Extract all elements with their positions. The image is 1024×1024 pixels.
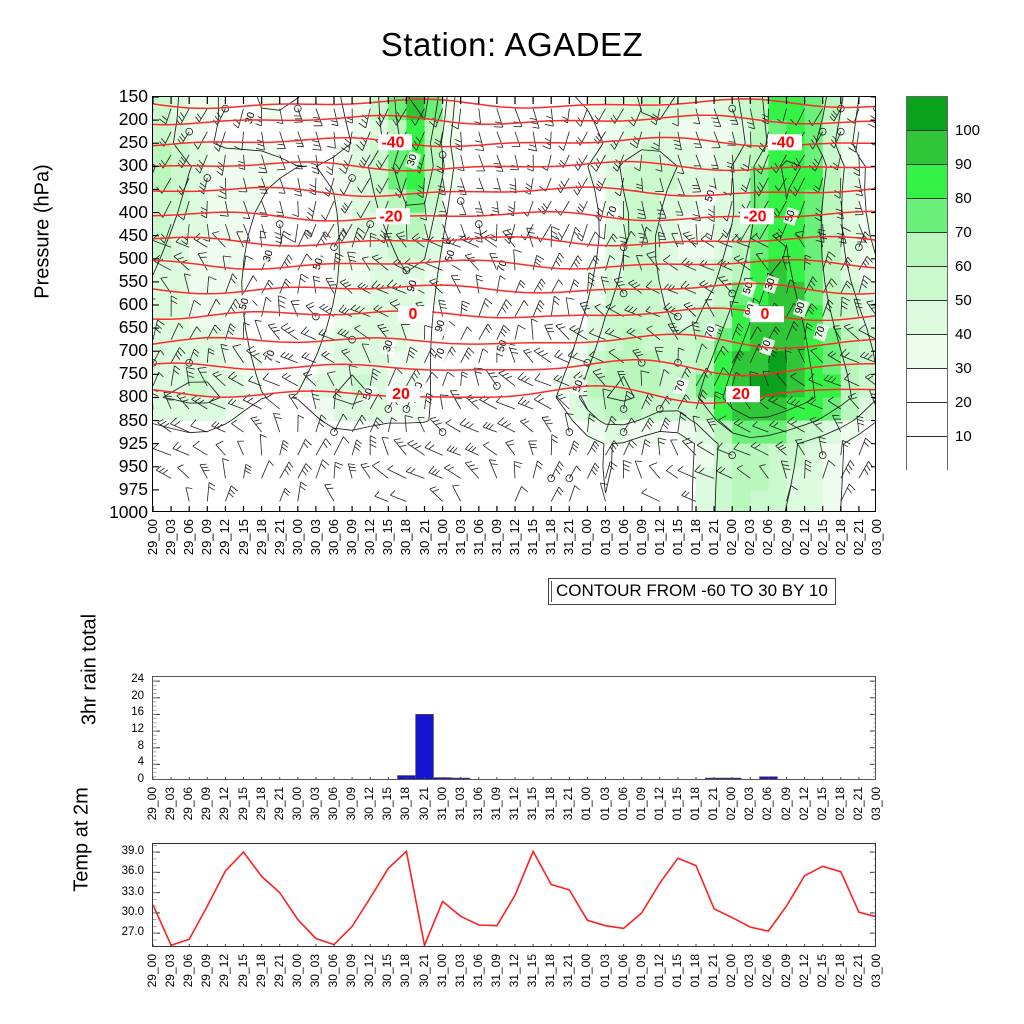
time-tick: 29_15 (237, 787, 249, 820)
time-tick: 30_06 (327, 519, 340, 555)
colorbar-band (907, 369, 947, 403)
colorbar-band (907, 233, 947, 267)
time-tick: 02_21 (852, 954, 864, 987)
temperature-plot (152, 843, 876, 947)
rain-tick: 8 (104, 741, 144, 753)
time-tick: 02_15 (816, 519, 829, 555)
colorbar-label: 70 (955, 225, 972, 240)
page-title: Station: AGADEZ (0, 26, 1024, 64)
colorbar-label: 20 (955, 395, 972, 410)
time-tick: 01_06 (617, 954, 629, 987)
time-tick: 01_09 (635, 954, 647, 987)
temp-line (153, 851, 876, 945)
time-tick: 02_09 (780, 954, 792, 987)
colorbar-label: 80 (955, 191, 972, 206)
time-tick: 31_03 (454, 519, 467, 555)
time-tick: 31_03 (454, 787, 466, 820)
temp-axis-ticks: 27.030.033.036.039.0 (100, 836, 144, 956)
temp-axis-title: Temp at 2m (71, 730, 94, 950)
time-tick: 29_12 (218, 519, 231, 555)
pressure-tick: 750 (72, 365, 148, 383)
colorbar-band (907, 335, 947, 369)
time-tick: 30_12 (363, 954, 375, 987)
time-tick: 30_00 (291, 519, 304, 555)
time-tick: 30_09 (345, 954, 357, 987)
time-tick: 29_09 (200, 519, 213, 555)
pressure-tick: 800 (72, 388, 148, 406)
colorbar-band (907, 131, 947, 165)
time-tick: 31_06 (472, 787, 484, 820)
pressure-tick: 950 (72, 458, 148, 476)
time-tick: 02_15 (816, 954, 828, 987)
time-tick: 31_06 (472, 954, 484, 987)
time-tick: 30_18 (399, 954, 411, 987)
time-tick: 01_03 (599, 787, 611, 820)
time-tick: 29_06 (182, 954, 194, 987)
time-tick: 01_21 (707, 519, 720, 555)
rain-tick: 12 (104, 724, 144, 736)
temp-time-axis: 29_0029_0329_0629_0929_1229_1529_1829_21… (152, 952, 876, 1010)
colorbar-label: 40 (955, 327, 972, 342)
temp-tick: 36.0 (100, 866, 144, 878)
temp-tick: 30.0 (100, 907, 144, 919)
time-tick: 31_21 (562, 787, 574, 820)
time-tick: 01_21 (707, 954, 719, 987)
time-tick: 02_09 (780, 519, 793, 555)
colorbar-label: 10 (955, 429, 972, 444)
pressure-tick: 350 (72, 180, 148, 198)
time-tick: 01_06 (617, 787, 629, 820)
pressure-tick: 400 (72, 204, 148, 222)
time-tick: 02_21 (852, 519, 865, 555)
pressure-axis-ticks: 1502002503003504004505005506006507007508… (72, 88, 148, 520)
colorbar-band (907, 199, 947, 233)
svg-text:20: 20 (392, 386, 410, 403)
time-tick: 02_03 (743, 519, 756, 555)
time-tick: 02_18 (834, 519, 847, 555)
time-tick: 31_03 (454, 954, 466, 987)
time-tick: 30_00 (291, 787, 303, 820)
time-tick: 31_12 (508, 954, 520, 987)
time-tick: 29_09 (200, 787, 212, 820)
svg-text:-20: -20 (379, 208, 402, 225)
time-tick: 31_00 (436, 787, 448, 820)
rain-tick: 16 (104, 707, 144, 719)
time-tick: 03_00 (870, 519, 883, 555)
pressure-tick: 250 (72, 134, 148, 152)
colorbar-label: 30 (955, 361, 972, 376)
pressure-tick: 850 (72, 412, 148, 430)
time-tick: 29_03 (164, 787, 176, 820)
humidity-cross-section-plot: 3030303030505050505050505050707070707070… (152, 96, 876, 512)
time-tick: 01_15 (671, 954, 683, 987)
temp-tick: 27.0 (100, 927, 144, 939)
time-tick: 31_12 (508, 787, 520, 820)
time-tick: 31_00 (436, 519, 449, 555)
time-tick: 29_00 (146, 954, 158, 987)
rain-tick: 0 (104, 774, 144, 786)
time-tick: 02_09 (780, 787, 792, 820)
time-tick: 01_12 (653, 954, 665, 987)
time-tick: 30_15 (381, 954, 393, 987)
svg-text:-20: -20 (743, 208, 766, 225)
time-tick: 30_00 (291, 954, 303, 987)
time-tick: 31_21 (562, 519, 575, 555)
pressure-tick: 300 (72, 157, 148, 175)
colorbar-band (907, 267, 947, 301)
time-tick: 31_06 (472, 519, 485, 555)
time-tick: 31_09 (490, 787, 502, 820)
time-tick: 01_18 (689, 954, 701, 987)
time-tick: 02_03 (743, 787, 755, 820)
time-tick: 29_21 (273, 954, 285, 987)
pressure-tick: 650 (72, 319, 148, 337)
rain-canvas (153, 677, 876, 780)
time-tick: 30_12 (363, 787, 375, 820)
time-tick: 02_00 (725, 519, 738, 555)
time-tick: 31_09 (490, 954, 502, 987)
time-tick: 29_09 (200, 954, 212, 987)
time-tick: 01_00 (580, 954, 592, 987)
time-tick: 30_09 (345, 787, 357, 820)
rain-tick: 4 (104, 757, 144, 769)
time-tick: 01_00 (580, 519, 593, 555)
rain-tick: 24 (104, 674, 144, 686)
time-tick: 31_18 (544, 519, 557, 555)
time-tick: 02_12 (798, 787, 810, 820)
time-tick: 30_03 (309, 519, 322, 555)
pressure-tick: 700 (72, 342, 148, 360)
time-tick: 01_03 (599, 954, 611, 987)
cross-section-canvas: 3030303030505050505050505050707070707070… (153, 97, 876, 512)
time-tick: 30_18 (399, 787, 411, 820)
time-tick: 01_09 (635, 787, 647, 820)
time-tick: 02_18 (834, 954, 846, 987)
time-tick: 29_18 (255, 519, 268, 555)
time-tick: 03_00 (870, 787, 882, 820)
colorbar-band (907, 437, 947, 471)
time-tick: 31_18 (544, 787, 556, 820)
time-tick: 01_18 (689, 519, 702, 555)
time-tick: 03_00 (870, 954, 882, 987)
time-tick: 30_21 (418, 954, 430, 987)
time-tick: 01_12 (653, 519, 666, 555)
time-tick: 01_06 (617, 519, 630, 555)
time-tick: 30_21 (418, 519, 431, 555)
rain-tick: 20 (104, 691, 144, 703)
colorbar-band (907, 97, 947, 131)
rain-time-axis: 29_0029_0329_0629_0929_1229_1529_1829_21… (152, 785, 876, 843)
temp-canvas (153, 844, 876, 947)
rain-axis-ticks: 04812162024 (104, 668, 144, 788)
time-tick: 30_12 (363, 519, 376, 555)
time-tick: 02_18 (834, 787, 846, 820)
svg-text:20: 20 (732, 386, 750, 403)
time-tick: 30_18 (399, 519, 412, 555)
time-tick: 30_21 (418, 787, 430, 820)
pressure-tick: 600 (72, 296, 148, 314)
time-tick: 31_15 (526, 519, 539, 555)
svg-text:0: 0 (409, 306, 418, 323)
time-tick: 30_15 (381, 519, 394, 555)
time-tick: 29_03 (164, 519, 177, 555)
time-tick: 30_15 (381, 787, 393, 820)
time-tick: 02_03 (743, 954, 755, 987)
colorbar-label: 50 (955, 293, 972, 308)
time-tick: 29_15 (237, 954, 249, 987)
time-tick: 29_03 (164, 954, 176, 987)
time-tick: 29_00 (146, 519, 159, 555)
time-tick: 31_15 (526, 787, 538, 820)
pressure-tick: 450 (72, 227, 148, 245)
colorbar-band (907, 403, 947, 437)
time-tick: 02_06 (761, 954, 773, 987)
time-tick: 01_15 (671, 787, 683, 820)
colorbar-label: 60 (955, 259, 972, 274)
time-tick: 31_00 (436, 954, 448, 987)
time-tick: 02_12 (798, 519, 811, 555)
rain-bar (579, 779, 597, 780)
time-tick: 29_18 (255, 787, 267, 820)
time-tick: 30_06 (327, 787, 339, 820)
temp-tick: 33.0 (100, 887, 144, 899)
time-tick: 01_18 (689, 787, 701, 820)
time-tick: 31_15 (526, 954, 538, 987)
pressure-tick: 500 (72, 250, 148, 268)
rain-bar (416, 714, 434, 780)
time-tick: 30_09 (345, 519, 358, 555)
time-tick: 01_12 (653, 787, 665, 820)
svg-text:-40: -40 (381, 134, 404, 151)
time-tick: 29_12 (218, 787, 230, 820)
time-tick: 02_06 (761, 787, 773, 820)
time-tick: 29_18 (255, 954, 267, 987)
svg-text:0: 0 (761, 306, 770, 323)
time-tick: 29_21 (273, 519, 286, 555)
time-tick: 02_00 (725, 787, 737, 820)
pressure-tick: 1000 (72, 504, 148, 522)
pressure-tick: 975 (72, 481, 148, 499)
time-tick: 02_15 (816, 787, 828, 820)
contour-range-note: CONTOUR FROM -60 TO 30 BY 10 (548, 578, 836, 605)
time-tick: 31_09 (490, 519, 503, 555)
main-time-axis: 29_0029_0329_0629_0929_1229_1529_1829_21… (152, 517, 876, 579)
time-tick: 30_06 (327, 954, 339, 987)
pressure-tick: 150 (72, 88, 148, 106)
time-tick: 30_03 (309, 787, 321, 820)
rain-total-plot (152, 676, 876, 780)
time-tick: 31_18 (544, 954, 556, 987)
pressure-tick: 200 (72, 111, 148, 129)
pressure-tick: 925 (72, 435, 148, 453)
pressure-tick: 550 (72, 273, 148, 291)
time-tick: 02_21 (852, 787, 864, 820)
colorbar-label: 90 (955, 157, 972, 172)
time-tick: 29_21 (273, 787, 285, 820)
time-tick: 29_06 (182, 519, 195, 555)
time-tick: 29_00 (146, 787, 158, 820)
humidity-colorbar-labels: 100908070605040302010 (955, 96, 1015, 470)
time-tick: 01_09 (635, 519, 648, 555)
time-tick: 29_06 (182, 787, 194, 820)
colorbar-band (907, 165, 947, 199)
time-tick: 01_15 (671, 519, 684, 555)
time-tick: 30_03 (309, 954, 321, 987)
time-tick: 02_12 (798, 954, 810, 987)
svg-text:-40: -40 (771, 134, 794, 151)
time-tick: 29_15 (237, 519, 250, 555)
pressure-axis-title: Pressure (hPa) (32, 127, 55, 337)
colorbar-label: 100 (955, 123, 980, 138)
time-tick: 01_03 (599, 519, 612, 555)
time-tick: 29_12 (218, 954, 230, 987)
time-tick: 02_00 (725, 954, 737, 987)
time-tick: 31_21 (562, 954, 574, 987)
colorbar-band (907, 301, 947, 335)
temp-tick: 39.0 (100, 846, 144, 858)
time-tick: 02_06 (761, 519, 774, 555)
time-tick: 01_00 (580, 787, 592, 820)
time-tick: 01_21 (707, 787, 719, 820)
humidity-colorbar (906, 96, 948, 470)
time-tick: 31_12 (508, 519, 521, 555)
